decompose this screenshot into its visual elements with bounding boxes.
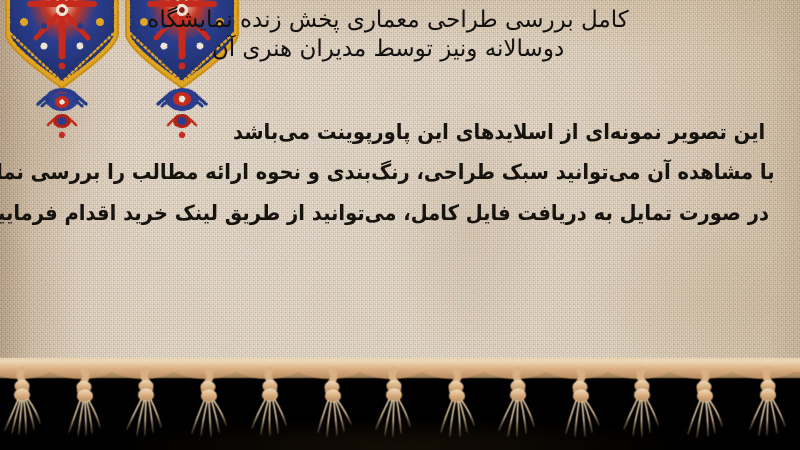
carpet-selvedge-edge	[0, 358, 800, 378]
body-line-1: این تصویر نمونه‌ای از اسلایدهای این پاور…	[55, 112, 782, 152]
slide-title-line-2: دوسالانه ونیز توسط مدیران هنری آن	[0, 35, 800, 64]
slide-body-text: این تصویر نمونه‌ای از اسلایدهای این پاور…	[0, 112, 800, 233]
bottom-black-band	[0, 372, 800, 450]
slide-title-line-1: کامل بررسی طراحی معماری پخش زنده نمایشگا…	[0, 6, 800, 35]
body-line-2: با مشاهده آن می‌توانید سبک طراحی، رنگ‌بن…	[55, 152, 782, 192]
slide-title: کامل بررسی طراحی معماری پخش زنده نمایشگا…	[0, 6, 800, 65]
slide-canvas: کامل بررسی طراحی معماری پخش زنده نمایشگا…	[0, 0, 800, 450]
body-line-3: در صورت تمایل به دریافت فایل کامل، می‌تو…	[55, 193, 782, 233]
medallion-right-pendant-icon	[158, 88, 206, 110]
